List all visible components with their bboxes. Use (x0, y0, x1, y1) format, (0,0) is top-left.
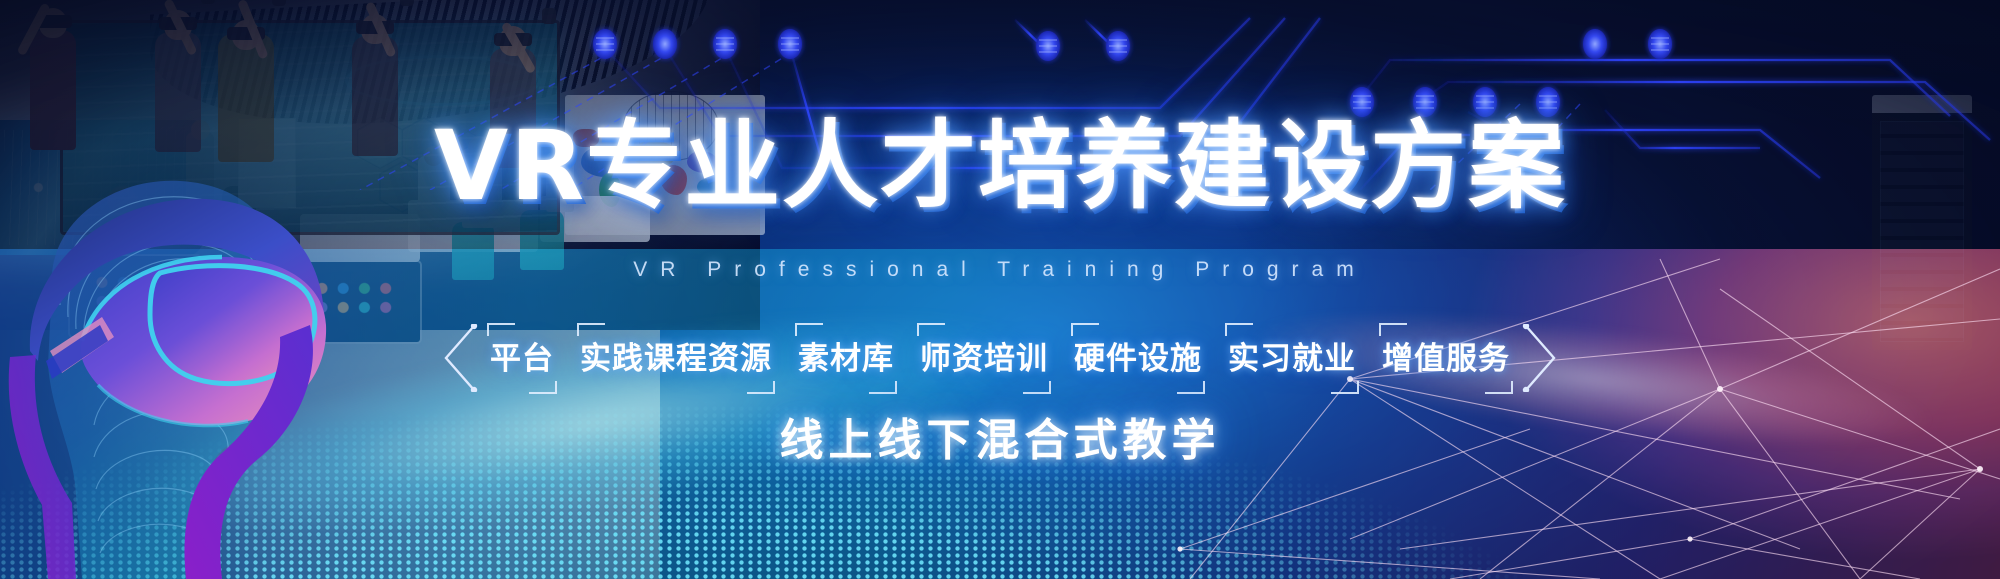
feature-tag-course-resource[interactable]: 实践课程资源 (580, 342, 772, 375)
banner-content: VR专业人才培养建设方案 VR Professional Training Pr… (0, 0, 2000, 579)
vr-training-program-banner: VR专业人才培养建设方案 VR Professional Training Pr… (0, 0, 2000, 579)
angle-bracket-left-icon (440, 324, 478, 392)
feature-tag-internship[interactable]: 实习就业 (1228, 342, 1356, 375)
feature-tag-bar: 平台 实践课程资源 素材库 师资培训 硬件设施 实习就业 增值服务 (440, 324, 1560, 392)
angle-bracket-right-icon (1522, 324, 1560, 392)
feature-tag-value-added[interactable]: 增值服务 (1382, 342, 1510, 375)
teaching-mode-tagline: 线上线下混合式教学 (0, 404, 2000, 468)
feature-tag-teacher-training[interactable]: 师资培训 (920, 342, 1048, 375)
feature-tag-hardware[interactable]: 硬件设施 (1074, 342, 1202, 375)
english-subtitle: VR Professional Training Program (0, 258, 2000, 282)
feature-tags: 平台 实践课程资源 素材库 师资培训 硬件设施 实习就业 增值服务 (478, 342, 1522, 375)
feature-tag-platform[interactable]: 平台 (490, 342, 554, 375)
page-title: VR专业人才培养建设方案 (0, 118, 2000, 214)
feature-tag-material-library[interactable]: 素材库 (798, 342, 894, 375)
